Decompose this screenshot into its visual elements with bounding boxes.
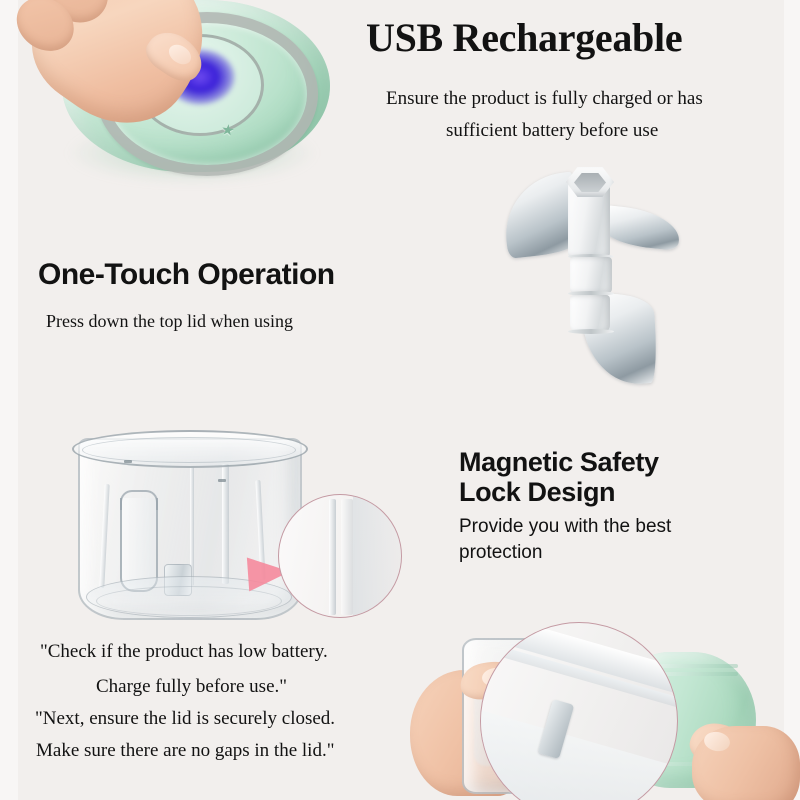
- bowl-tick-mark: [218, 479, 226, 482]
- magnified-lid-body: [480, 710, 678, 800]
- blade-upper-right: [602, 205, 682, 251]
- usb-subtitle-line2: sufficient battery before use: [446, 120, 658, 142]
- blade-shaft-mid: [570, 257, 612, 293]
- usb-title: USB Rechargeable: [366, 14, 682, 61]
- figure-one-touch-dome: ★ ★: [18, 0, 348, 209]
- one-touch-subtitle: Press down the top lid when using: [46, 311, 293, 332]
- magnifier-callout-bowl: [278, 494, 402, 618]
- magnifier-shading: [353, 495, 402, 617]
- figure-blade-assembly: [478, 165, 698, 390]
- note-line1: "Check if the product has low battery.: [40, 641, 328, 663]
- bowl-rim-inner: [82, 437, 296, 463]
- magnetic-subtitle-line1: Provide you with the best: [459, 516, 671, 538]
- note-line2: Charge fully before use.": [96, 676, 287, 698]
- one-touch-title: One-Touch Operation: [38, 258, 335, 292]
- left-edge-strip: [0, 0, 18, 800]
- bowl-rib: [222, 464, 229, 584]
- infographic-page: ★ ★ USB Rechargeable Ensure the product …: [0, 0, 800, 800]
- shaft-ring: [568, 329, 614, 334]
- bowl-tick-mark: [124, 460, 132, 463]
- magnifier-callout-lock: [480, 622, 678, 800]
- bowl-inner-vane-tip: [120, 490, 158, 510]
- magnified-rib: [341, 499, 353, 615]
- magnetic-title-line2: Lock Design: [459, 477, 615, 508]
- magnetic-title-line1: Magnetic Safety: [459, 447, 659, 478]
- star-decal-icon: ★: [220, 121, 236, 140]
- usb-subtitle-line1: Ensure the product is fully charged or h…: [386, 88, 703, 110]
- magnified-rib: [329, 499, 336, 615]
- note-line4: Make sure there are no gaps in the lid.": [36, 740, 334, 762]
- magnetic-subtitle-line2: protection: [459, 542, 542, 564]
- blade-shaft-low: [570, 295, 610, 333]
- magnified-rim-edge: [480, 622, 678, 698]
- note-line3: "Next, ensure the lid is securely closed…: [35, 708, 335, 730]
- figure-magnetic-lock: [404, 586, 800, 800]
